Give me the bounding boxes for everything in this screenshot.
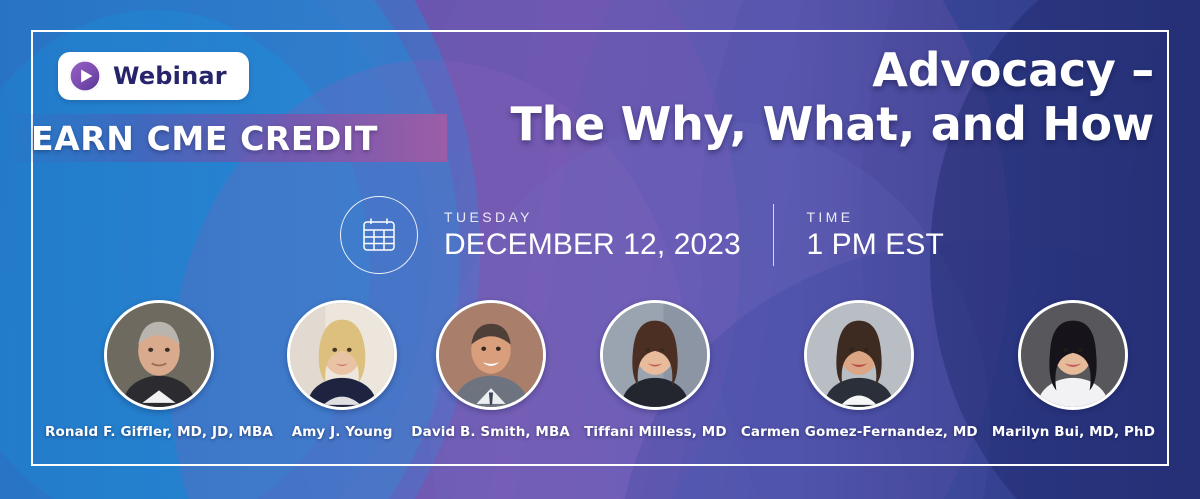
avatar — [436, 300, 546, 410]
date-block: TUESDAY DECEMBER 12, 2023 — [444, 209, 741, 262]
speaker-name: Carmen Gomez-Fernandez, MD — [741, 424, 978, 440]
avatar — [287, 300, 397, 410]
time-kicker: TIME — [806, 209, 944, 225]
webinar-badge-label: Webinar — [113, 62, 227, 90]
speaker-list: Ronald F. Giffler, MD, JD, MBA Amy J. Yo… — [31, 300, 1169, 440]
date-value: DECEMBER 12, 2023 — [444, 228, 741, 262]
speaker-item: Ronald F. Giffler, MD, JD, MBA — [45, 300, 273, 440]
webinar-badge[interactable]: Webinar — [58, 52, 249, 100]
calendar-icon — [340, 196, 418, 274]
speaker-name: Ronald F. Giffler, MD, JD, MBA — [45, 424, 273, 440]
speaker-item: Marilyn Bui, MD, PhD — [992, 300, 1155, 440]
page-title: Advocacy – The Why, What, and How — [434, 44, 1154, 152]
speaker-name: Marilyn Bui, MD, PhD — [992, 424, 1155, 440]
title-line-2: The Why, What, and How — [434, 98, 1154, 152]
cme-credit-banner: EARN CME CREDIT — [0, 114, 447, 162]
webinar-banner: Webinar EARN CME CREDIT Advocacy – The W… — [0, 0, 1200, 499]
avatar — [600, 300, 710, 410]
cme-credit-label: EARN CME CREDIT — [31, 119, 378, 158]
speaker-name: Tiffani Milless, MD — [584, 424, 727, 440]
avatar — [804, 300, 914, 410]
speaker-item: Carmen Gomez-Fernandez, MD — [741, 300, 978, 440]
speaker-name: Amy J. Young — [292, 424, 393, 440]
time-value: 1 PM EST — [806, 228, 944, 262]
avatar — [1018, 300, 1128, 410]
title-line-1: Advocacy – — [434, 44, 1154, 98]
schedule-strip: TUESDAY DECEMBER 12, 2023 TIME 1 PM EST — [340, 196, 944, 274]
date-kicker: TUESDAY — [444, 209, 741, 225]
play-icon — [68, 59, 102, 93]
speaker-item: Tiffani Milless, MD — [584, 300, 727, 440]
avatar — [104, 300, 214, 410]
time-block: TIME 1 PM EST — [806, 209, 944, 262]
speaker-item: David B. Smith, MBA — [411, 300, 570, 440]
speaker-name: David B. Smith, MBA — [411, 424, 570, 440]
schedule-divider — [773, 204, 775, 266]
speaker-item: Amy J. Young — [287, 300, 397, 440]
